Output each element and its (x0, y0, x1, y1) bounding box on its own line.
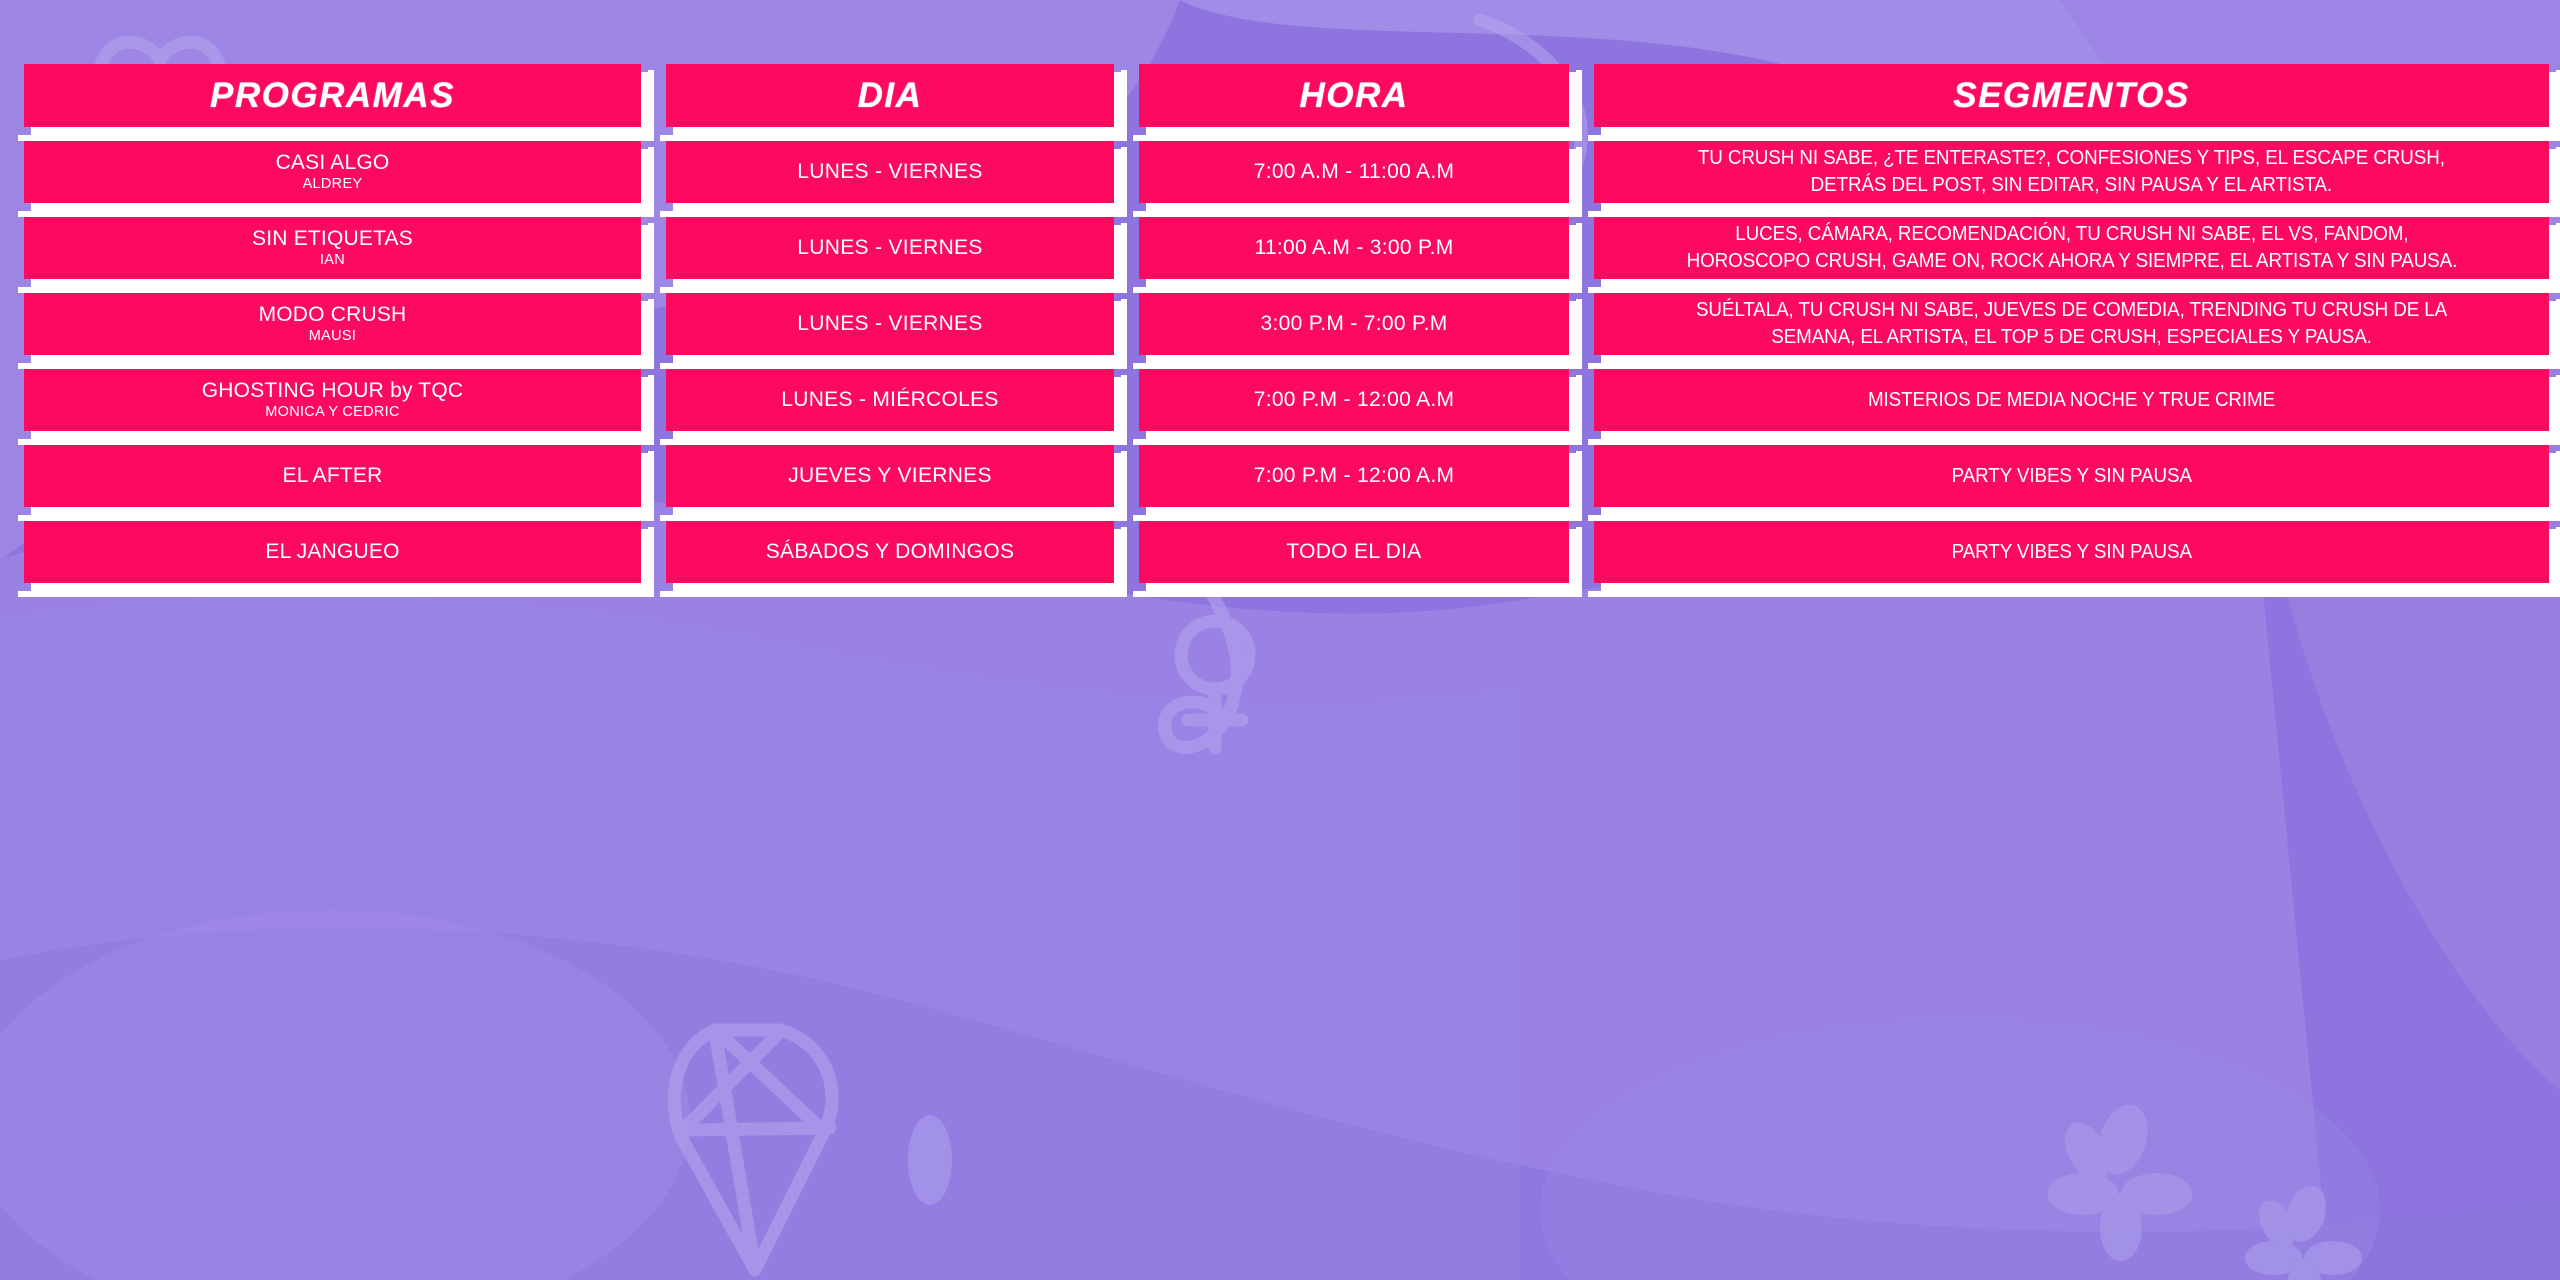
column-header-segmentos: SEGMENTOS (1594, 64, 2549, 127)
program-hour: 7:00 P.M - 12:00 A.M (1254, 388, 1455, 412)
program-title: GHOSTING HOUR by TQC (202, 379, 463, 403)
schedule-grid: PROGRAMAS DIA HORA SEGMENTOS CASI ALGO A… (24, 64, 2522, 583)
program-day: JUEVES Y VIERNES (788, 464, 992, 488)
table-row[interactable]: SIN ETIQUETAS IAN (24, 217, 641, 279)
table-row[interactable]: LUNES - VIERNES (666, 293, 1114, 355)
program-host: ALDREY (303, 176, 363, 193)
program-hour: 3:00 P.M - 7:00 P.M (1260, 312, 1447, 336)
program-title: MODO CRUSH (259, 303, 407, 327)
column-header-programas: PROGRAMAS (24, 64, 641, 127)
program-hour: 11:00 A.M - 3:00 P.M (1255, 236, 1454, 260)
program-host: IAN (320, 252, 345, 269)
program-segments: MISTERIOS DE MEDIA NOCHE Y TRUE CRIME (1868, 388, 2275, 412)
program-title: EL JANGUEO (265, 540, 399, 564)
program-segments: TU CRUSH NI SABE, ¿TE ENTERASTE?, CONFES… (1698, 145, 2445, 198)
program-segments: PARTY VIBES Y SIN PAUSA (1951, 540, 2191, 564)
table-row[interactable]: LUNES - VIERNES (666, 217, 1114, 279)
table-row[interactable]: SUÉLTALA, TU CRUSH NI SABE, JUEVES DE CO… (1594, 293, 2549, 355)
table-row[interactable]: LUCES, CÁMARA, RECOMENDACIÓN, TU CRUSH N… (1594, 217, 2549, 279)
program-title: CASI ALGO (276, 151, 390, 175)
table-row[interactable]: EL JANGUEO (24, 521, 641, 583)
program-title: SIN ETIQUETAS (252, 227, 413, 251)
table-row[interactable]: TU CRUSH NI SABE, ¿TE ENTERASTE?, CONFES… (1594, 141, 2549, 203)
column-header-label: HORA (1299, 78, 1408, 113)
table-row[interactable]: 7:00 P.M - 12:00 A.M (1139, 445, 1569, 507)
table-row[interactable]: 11:00 A.M - 3:00 P.M (1139, 217, 1569, 279)
table-row[interactable]: LUNES - VIERNES (666, 141, 1114, 203)
table-row[interactable]: SÁBADOS Y DOMINGOS (666, 521, 1114, 583)
table-row[interactable]: MODO CRUSH MAUSI (24, 293, 641, 355)
column-header-label: SEGMENTOS (1953, 78, 2190, 113)
program-title: EL AFTER (282, 464, 382, 488)
schedule-board: PROGRAMAS DIA HORA SEGMENTOS CASI ALGO A… (0, 0, 2560, 1280)
table-row[interactable]: MISTERIOS DE MEDIA NOCHE Y TRUE CRIME (1594, 369, 2549, 431)
table-row[interactable]: 7:00 P.M - 12:00 A.M (1139, 369, 1569, 431)
table-row[interactable]: PARTY VIBES Y SIN PAUSA (1594, 521, 2549, 583)
program-segments: LUCES, CÁMARA, RECOMENDACIÓN, TU CRUSH N… (1686, 221, 2457, 274)
program-day: LUNES - MIÉRCOLES (781, 388, 998, 412)
program-hour: 7:00 P.M - 12:00 A.M (1254, 464, 1455, 488)
table-row[interactable]: TODO EL DIA (1139, 521, 1569, 583)
program-host: MONICA Y CEDRIC (265, 404, 400, 421)
program-host: MAUSI (309, 328, 356, 345)
table-row[interactable]: PARTY VIBES Y SIN PAUSA (1594, 445, 2549, 507)
program-hour: 7:00 A.M - 11:00 A.M (1254, 160, 1455, 184)
program-segments: SUÉLTALA, TU CRUSH NI SABE, JUEVES DE CO… (1696, 297, 2447, 350)
program-day: LUNES - VIERNES (797, 312, 982, 336)
table-row[interactable]: EL AFTER (24, 445, 641, 507)
table-row[interactable]: 7:00 A.M - 11:00 A.M (1139, 141, 1569, 203)
column-header-dia: DIA (666, 64, 1114, 127)
table-row[interactable]: GHOSTING HOUR by TQC MONICA Y CEDRIC (24, 369, 641, 431)
program-hour: TODO EL DIA (1286, 540, 1421, 564)
program-day: SÁBADOS Y DOMINGOS (766, 540, 1015, 564)
column-header-label: PROGRAMAS (210, 78, 455, 113)
table-row[interactable]: LUNES - MIÉRCOLES (666, 369, 1114, 431)
table-row[interactable]: JUEVES Y VIERNES (666, 445, 1114, 507)
column-header-hora: HORA (1139, 64, 1569, 127)
column-header-label: DIA (858, 78, 923, 113)
table-row[interactable]: CASI ALGO ALDREY (24, 141, 641, 203)
program-day: LUNES - VIERNES (797, 236, 982, 260)
table-row[interactable]: 3:00 P.M - 7:00 P.M (1139, 293, 1569, 355)
program-day: LUNES - VIERNES (797, 160, 982, 184)
program-segments: PARTY VIBES Y SIN PAUSA (1951, 464, 2191, 488)
